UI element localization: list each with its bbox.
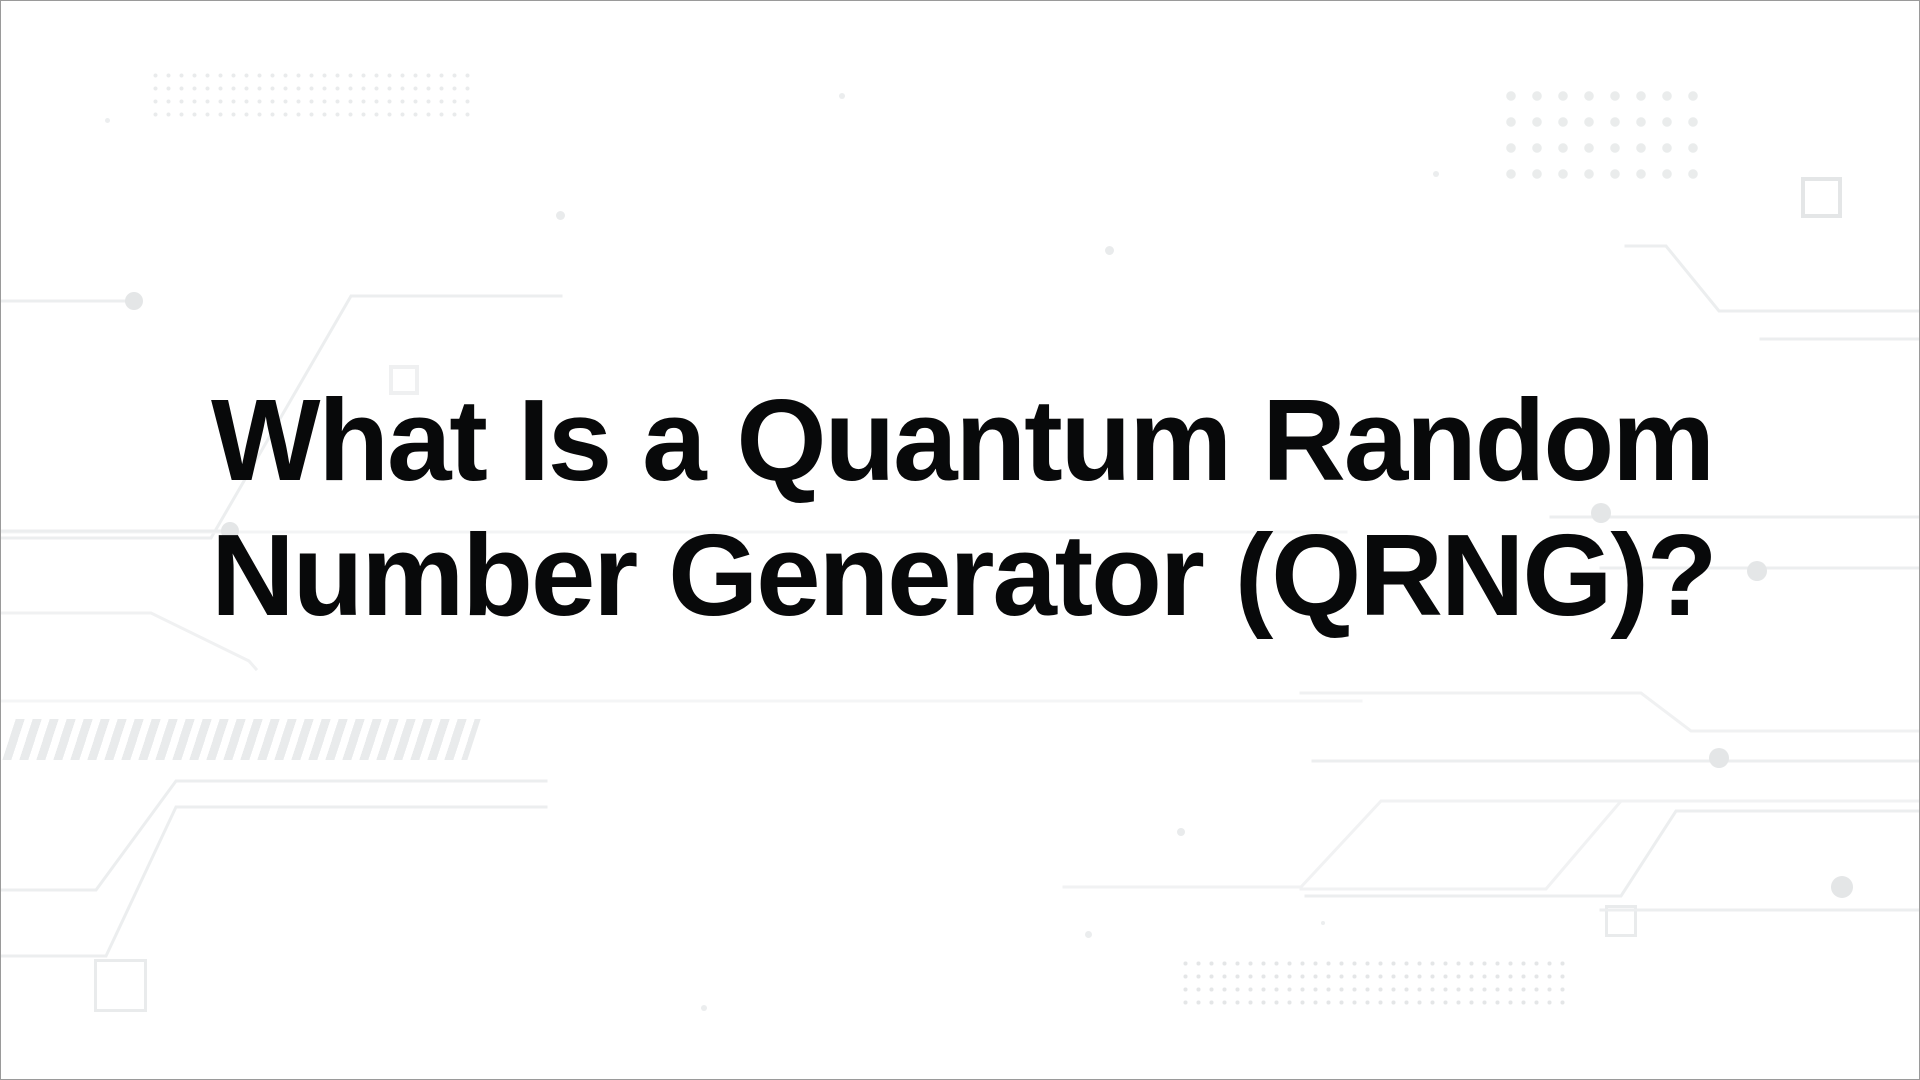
terminal-dot-left-upper — [125, 292, 143, 310]
headline-line-2: Number Generator (QRNG)? — [211, 508, 1771, 643]
scatter-dot-6 — [1177, 828, 1185, 836]
scatter-dot-9 — [701, 1005, 707, 1011]
circuit-trace-bottom-left-step — [1, 781, 546, 890]
circuit-trace-step-mid-right — [1301, 693, 1920, 731]
scatter-dot-7 — [1085, 931, 1092, 938]
square-bottom-left — [94, 959, 147, 1012]
scatter-dot-8 — [1321, 921, 1325, 925]
scatter-dot-5 — [1433, 171, 1439, 177]
scatter-dot-2 — [556, 211, 565, 220]
circuit-trace-lower-center-2 — [1064, 801, 1920, 887]
headline-line-1: What Is a Quantum Random — [211, 373, 1771, 508]
dot-grid-top-left — [149, 69, 474, 121]
scatter-dot-3 — [839, 93, 845, 99]
terminal-dot-right-bottom — [1831, 876, 1853, 898]
circuit-trace-step-upper-right — [1626, 246, 1920, 311]
dot-grid-bottom-right — [1179, 957, 1569, 1009]
diagonal-hatch-band — [2, 719, 480, 760]
scatter-dot-1 — [105, 118, 110, 123]
dot-grid-top-right — [1498, 83, 1706, 187]
page-title: What Is a Quantum Random Number Generato… — [211, 373, 1771, 642]
square-bottom-right — [1605, 905, 1637, 937]
circuit-trace-step-lower-right — [1306, 811, 1920, 896]
circuit-trace-step-lower-left — [1, 807, 546, 956]
headline-block: What Is a Quantum Random Number Generato… — [211, 373, 1771, 642]
scatter-dot-4 — [1105, 246, 1114, 255]
square-top-right — [1801, 177, 1842, 218]
terminal-dot-spare — [1839, 891, 1840, 892]
slide-canvas: What Is a Quantum Random Number Generato… — [0, 0, 1920, 1080]
terminal-dot-right-lower — [1709, 748, 1729, 768]
circuit-trace-lower-center — [1301, 801, 1920, 889]
